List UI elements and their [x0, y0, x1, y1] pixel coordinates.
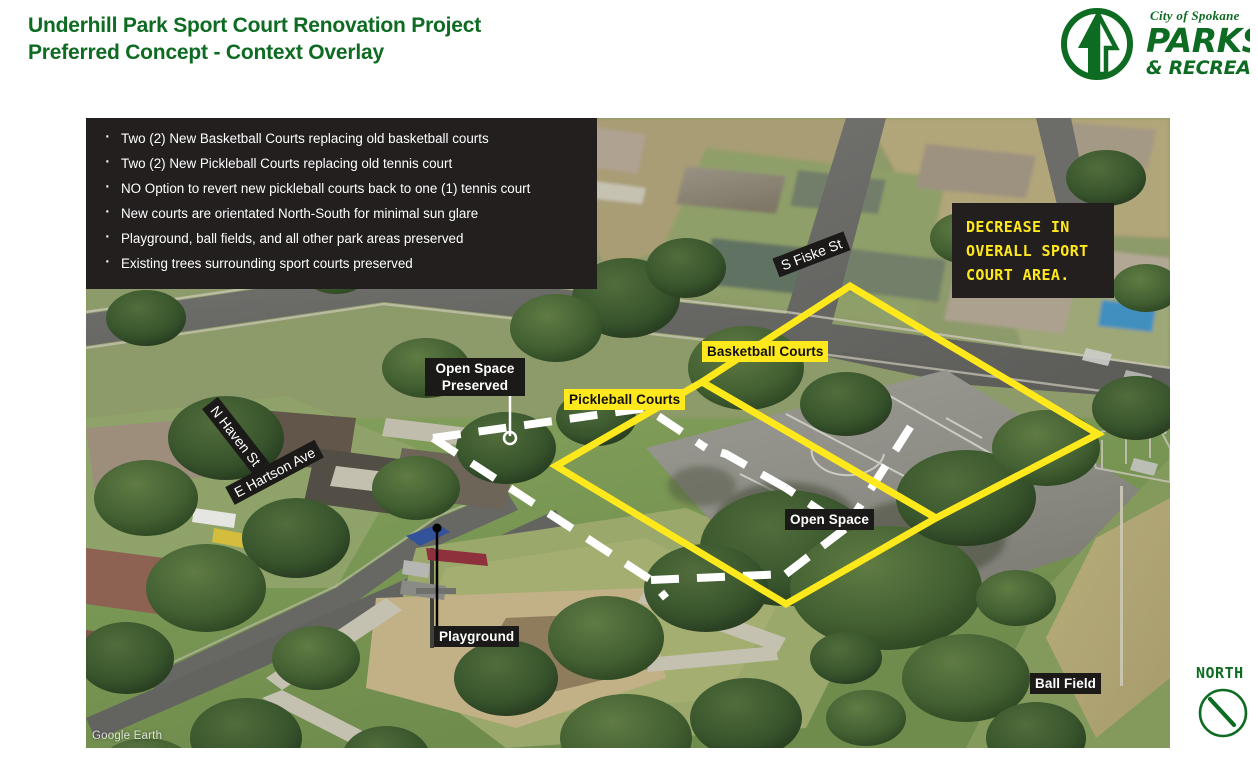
label-basketball-courts: Basketball Courts — [702, 341, 828, 362]
page-header: Underhill Park Sport Court Renovation Pr… — [0, 0, 1258, 118]
bullet-item: New courts are orientated North-South fo… — [100, 201, 587, 226]
bullet-list: Two (2) New Basketball Courts replacing … — [86, 126, 597, 276]
bullet-item: Existing trees surrounding sport courts … — [100, 251, 587, 276]
svg-text:& RECREATION: & RECREATION — [1146, 57, 1250, 79]
decrease-area-callout: DECREASE IN OVERALL SPORT COURT AREA. — [952, 203, 1114, 298]
page-title: Underhill Park Sport Court Renovation Pr… — [28, 12, 481, 66]
logo-wordmark: City of Spokane PARKS & RECREATION — [1146, 8, 1250, 79]
label-ball-field: Ball Field — [1030, 673, 1101, 694]
label-open-space: Open Space — [785, 509, 874, 530]
north-compass: NORTH — [1196, 664, 1256, 748]
label-open-space-preserved: Open Space Preserved — [425, 358, 525, 396]
callout-line-1: DECREASE IN — [966, 215, 1104, 239]
aerial-map[interactable]: Two (2) New Basketball Courts replacing … — [86, 118, 1170, 748]
page-title-line-1: Underhill Park Sport Court Renovation Pr… — [28, 12, 481, 39]
open-space-preserved-line-2: Preserved — [442, 378, 508, 393]
bullet-item: NO Option to revert new pickleball court… — [100, 176, 587, 201]
bullet-item: Two (2) New Pickleball Courts replacing … — [100, 151, 587, 176]
tree-circle-icon — [1064, 11, 1130, 77]
compass-label: NORTH — [1196, 664, 1256, 682]
label-pickleball-courts: Pickleball Courts — [564, 389, 685, 410]
callout-line-3: COURT AREA. — [966, 263, 1104, 287]
concept-bullet-panel: Two (2) New Basketball Courts replacing … — [86, 118, 597, 289]
label-playground: Playground — [434, 626, 519, 647]
google-earth-watermark: Google Earth — [92, 730, 162, 742]
svg-text:PARKS: PARKS — [1146, 21, 1250, 60]
spokane-parks-recreation-logo: City of Spokane PARKS & RECREATION — [1058, 4, 1250, 86]
callout-line-2: OVERALL SPORT — [966, 239, 1104, 263]
bullet-item: Playground, ball fields, and all other p… — [100, 226, 587, 251]
page-title-line-2: Preferred Concept - Context Overlay — [28, 39, 481, 66]
compass-needle-icon — [1196, 685, 1252, 741]
open-space-preserved-line-1: Open Space — [435, 361, 514, 376]
bullet-item: Two (2) New Basketball Courts replacing … — [100, 126, 587, 151]
